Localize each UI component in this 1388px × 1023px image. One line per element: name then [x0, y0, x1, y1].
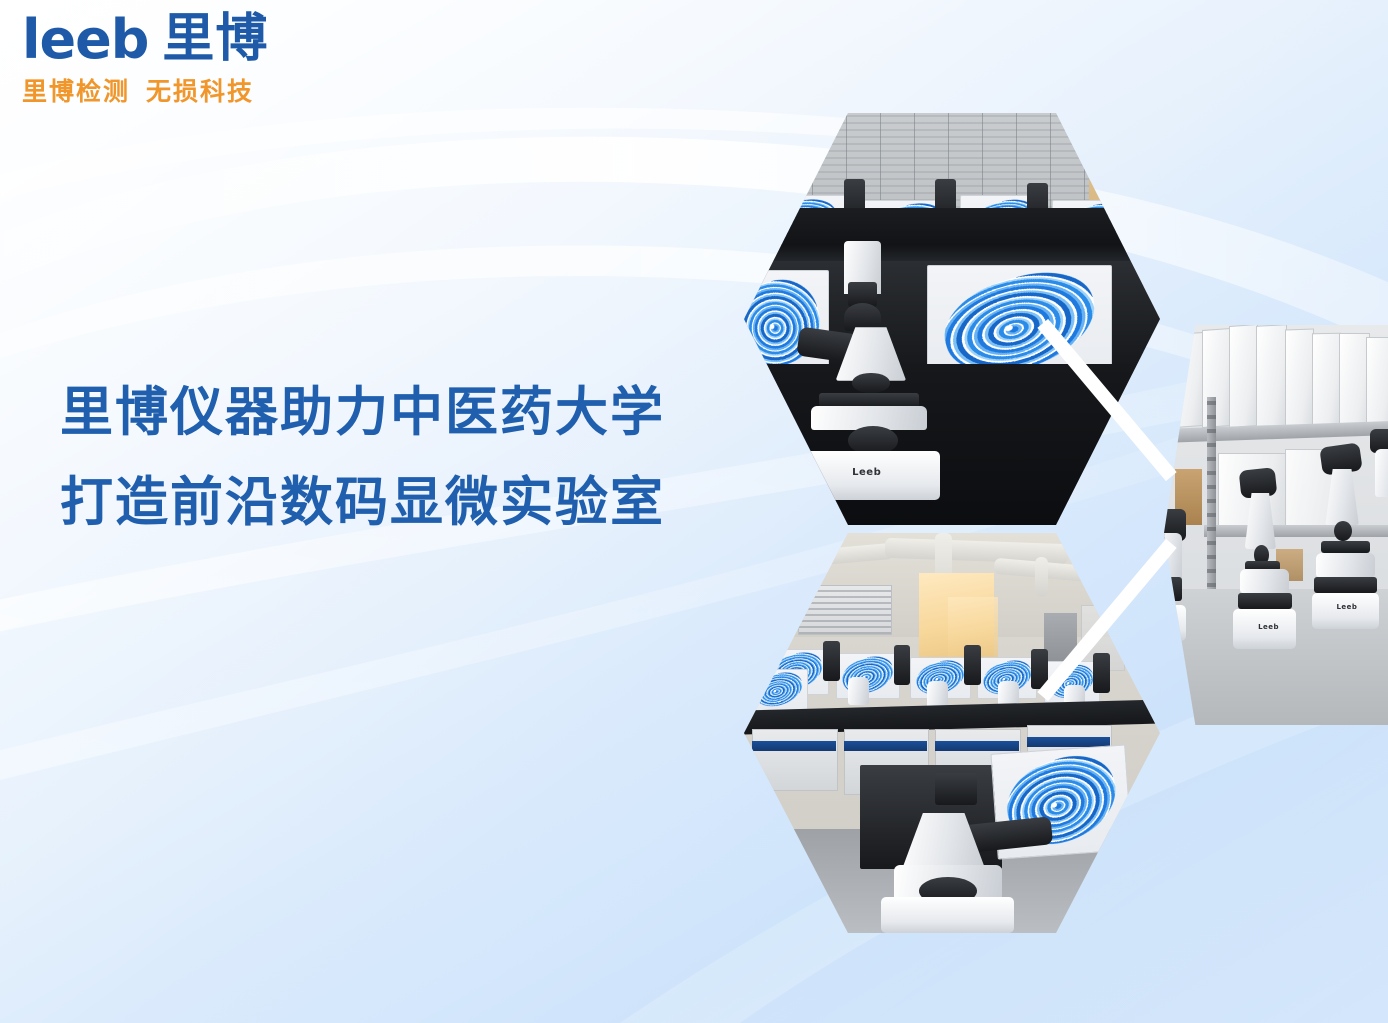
- photo-microscope-classroom-wide: [744, 533, 1160, 933]
- device-brand-label: Leeb: [1258, 623, 1279, 631]
- lab-warm-wall-strip: [1089, 113, 1160, 212]
- marketing-banner: leeb 里博 里博检测无损科技 里博仪器助力中医药大学 打造前沿数码显微实验室: [0, 0, 1388, 1023]
- device-brand-label: Leeb: [852, 467, 881, 478]
- photo-microscope-warehouse-shelf: Leeb Leeb: [1164, 325, 1388, 725]
- classroom-blinds: [798, 585, 892, 635]
- lab-closeup-photo-surface: Leeb: [744, 113, 1160, 525]
- photo-digital-microscope-lab-closeup: Leeb: [744, 113, 1160, 525]
- classroom-photo-surface: [744, 533, 1160, 933]
- photo-collage: Leeb Leeb: [0, 0, 1388, 1023]
- lab-upper-bench: [744, 208, 1160, 262]
- warehouse-photo-surface: Leeb Leeb: [1164, 325, 1388, 725]
- device-brand-label-secondary: Leeb: [1336, 603, 1357, 611]
